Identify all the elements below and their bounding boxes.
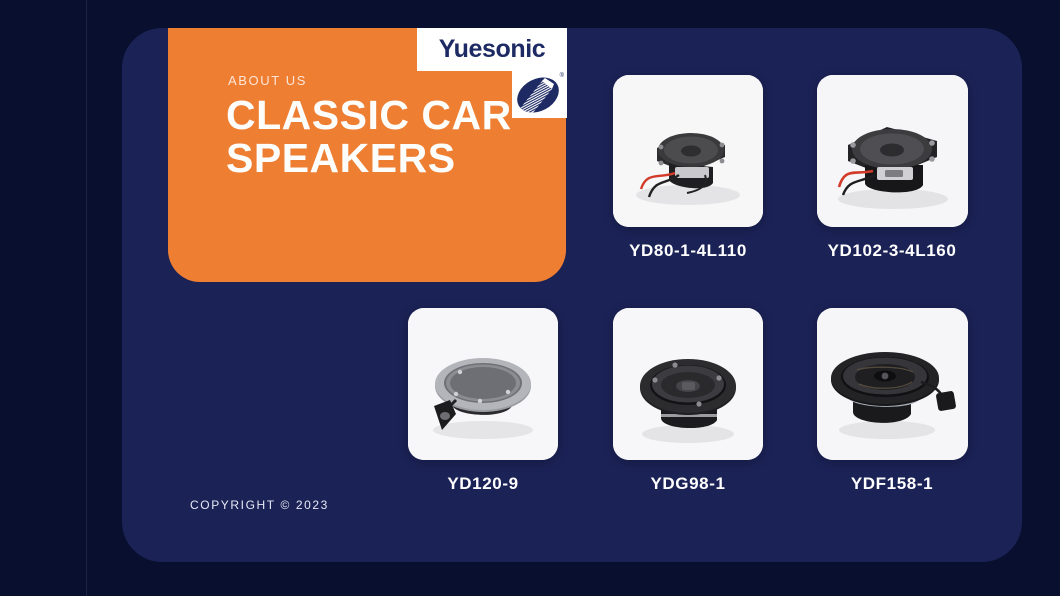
product-label-p1: YD80-1-4L110 — [598, 241, 778, 261]
product-label-p5: YDF158-1 — [802, 474, 982, 494]
background-guide-line — [86, 0, 87, 596]
product-label-p2: YD102-3-4L160 — [802, 241, 982, 261]
product-image-p3[interactable] — [408, 308, 558, 460]
product-grid: YD80-1-4L110 — [122, 28, 1022, 562]
copyright-text: COPYRIGHT © 2023 — [190, 498, 329, 512]
slide-canvas: ABOUT US CLASSIC CAR SPEAKERS Yuesonic — [0, 0, 1060, 596]
product-label-p3: YD120-9 — [393, 474, 573, 494]
product-label-p4: YDG98-1 — [598, 474, 778, 494]
content-card: ABOUT US CLASSIC CAR SPEAKERS Yuesonic — [122, 28, 1022, 562]
product-image-p2[interactable] — [817, 75, 968, 227]
product-image-p5[interactable] — [817, 308, 968, 460]
product-image-p1[interactable] — [613, 75, 763, 227]
product-image-p4[interactable] — [613, 308, 763, 460]
